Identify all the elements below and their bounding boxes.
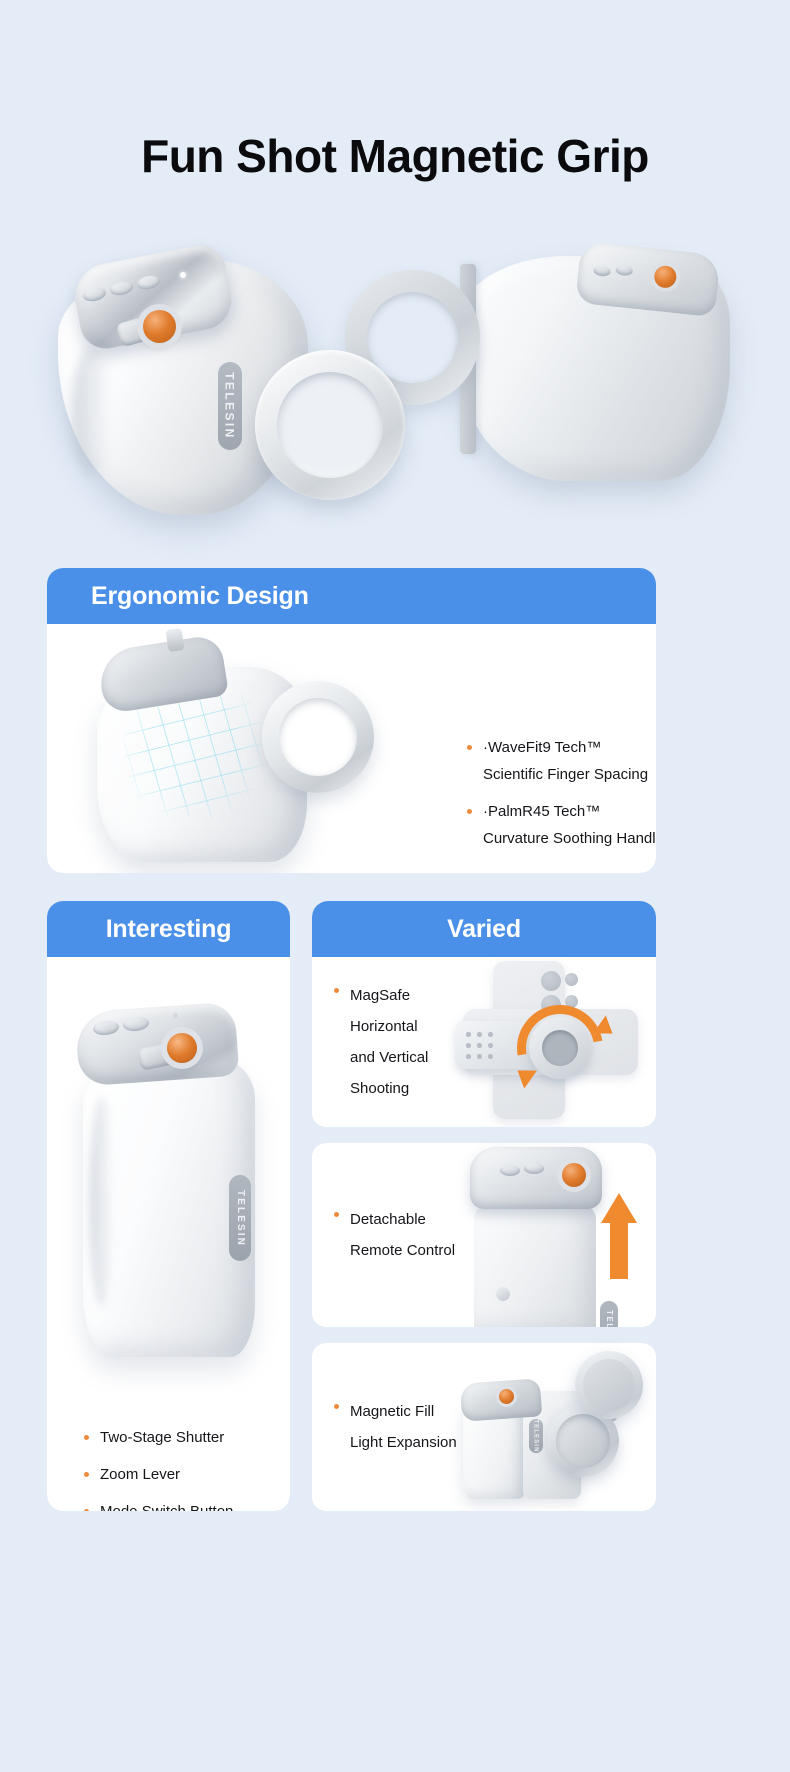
list-item: Mode Switch Button — [84, 1501, 284, 1511]
bullet-title: Detachable — [350, 1204, 426, 1235]
magnetic-ring-inner — [279, 698, 357, 776]
bullet-title: Magnetic Fill — [350, 1396, 434, 1427]
remote-grip-body: TELESIN — [474, 1205, 596, 1327]
up-arrow-icon — [610, 1221, 628, 1279]
remote-bullet-list: Detachable Remote Control — [334, 1143, 469, 1327]
magnetic-ring-icon — [262, 681, 374, 793]
shutter-button-icon — [562, 1163, 586, 1187]
subcard-fill-light: Magnetic Fill Light Expansion TELESIN — [312, 1343, 656, 1511]
remote-socket-icon — [496, 1287, 510, 1301]
card-interesting: Interesting TELESIN Two-Stage Shutter — [47, 901, 290, 1511]
card-ergonomic-design: Ergonomic Design ·WaveFit9 Tech™ Scienti… — [47, 568, 656, 873]
bullet-dot-icon — [84, 1472, 89, 1477]
list-item: Zoom Lever — [84, 1464, 284, 1485]
led-indicator-icon — [173, 1013, 178, 1018]
remote-illustration: TELESIN — [456, 1143, 656, 1327]
page-title: Fun Shot Magnetic Grip — [0, 129, 790, 183]
bullet-title: Light Expansion — [350, 1427, 457, 1458]
bullet-spacer — [334, 1050, 339, 1055]
fill-light-illustration: TELESIN — [447, 1357, 652, 1499]
bullet-subtitle: Curvature Soothing Handle — [483, 828, 656, 849]
hero-magnetic-ring-inner — [277, 372, 383, 478]
card-header-varied: Varied — [312, 901, 656, 957]
list-item: ·PalmR45 Tech™ — [467, 801, 656, 822]
card-body-ergonomic: ·WaveFit9 Tech™ Scientific Finger Spacin… — [47, 624, 656, 873]
brand-label: TELESIN — [529, 1419, 543, 1453]
wireframe-grid-overlay — [124, 691, 264, 819]
bullet-dot-icon — [467, 809, 472, 814]
bullet-spacer — [334, 1081, 339, 1086]
bullet-dot-icon — [334, 1212, 339, 1217]
infographic-page: Fun Shot Magnetic Grip TELESIN — [0, 0, 790, 1772]
bullet-title: Mode Switch Button — [100, 1501, 233, 1511]
subcard-magsafe: MagSafe Horizontal and Vertical Shooting — [312, 957, 656, 1127]
detachable-remote-module — [470, 1147, 602, 1209]
grip-buttons-icon — [463, 1029, 493, 1059]
interesting-illustration: TELESIN — [61, 975, 276, 1365]
subcard-remote-control: Detachable Remote Control TELESIN — [312, 1143, 656, 1327]
shutter-button-icon — [499, 1389, 514, 1404]
card-body-interesting: TELESIN Two-Stage Shutter Zoom Lever — [47, 957, 290, 1511]
interesting-bullet-list: Two-Stage Shutter Zoom Lever Mode Switch… — [84, 1427, 284, 1511]
list-item: Two-Stage Shutter — [84, 1427, 284, 1448]
brand-label-text: TELESIN — [605, 1310, 614, 1327]
bullet-dot-icon — [84, 1509, 89, 1511]
bullet-title: Remote Control — [350, 1235, 455, 1266]
bullet-title: ·WaveFit9 Tech™ — [483, 737, 601, 758]
list-item: Horizontal — [334, 1011, 469, 1042]
bullet-spacer — [334, 1019, 339, 1024]
list-item: ·WaveFit9 Tech™ — [467, 737, 656, 758]
fill-light-lens-inner — [556, 1414, 610, 1468]
bullet-spacer — [334, 1435, 339, 1440]
remote-button-icon — [500, 1165, 520, 1176]
bullet-spacer — [334, 1243, 339, 1248]
up-arrow-head-icon — [601, 1193, 637, 1223]
control-button-icon — [615, 265, 633, 277]
bullet-title: ·PalmR45 Tech™ — [483, 801, 600, 822]
list-item: and Vertical — [334, 1042, 469, 1073]
list-item: Detachable — [334, 1204, 469, 1235]
camera-lens-icon — [565, 973, 578, 986]
shutter-button-icon — [653, 265, 677, 289]
bullet-title: Horizontal — [350, 1011, 418, 1042]
camera-lens-icon — [541, 971, 561, 991]
bullet-dot-icon — [334, 1404, 339, 1409]
bullet-dot-icon — [334, 988, 339, 993]
brand-label-text: TELESIN — [533, 1419, 539, 1452]
magsafe-bullet-list: MagSafe Horizontal and Vertical Shooting — [334, 957, 469, 1127]
brand-label: TELESIN — [218, 362, 242, 450]
brand-label: TELESIN — [600, 1301, 618, 1327]
control-button-icon — [593, 265, 611, 277]
shutter-button-icon — [143, 310, 176, 343]
remote-button-icon — [524, 1163, 544, 1174]
list-item: Remote Control — [334, 1235, 469, 1266]
card-header-ergonomic: Ergonomic Design — [47, 568, 656, 624]
brand-label: TELESIN — [229, 1175, 251, 1261]
magsafe-illustration — [455, 963, 650, 1121]
brand-label-text: TELESIN — [223, 372, 237, 439]
bullet-title: Shooting — [350, 1073, 409, 1104]
led-indicator-icon — [180, 272, 186, 278]
bullet-subtitle: Scientific Finger Spacing — [483, 764, 656, 785]
bullet-dot-icon — [467, 745, 472, 750]
bullet-title: and Vertical — [350, 1042, 428, 1073]
ergonomic-illustration — [72, 629, 402, 869]
ergonomic-stem — [166, 628, 185, 652]
bullet-title: Zoom Lever — [100, 1464, 180, 1485]
bullet-dot-icon — [84, 1435, 89, 1440]
list-item: MagSafe — [334, 980, 469, 1011]
card-header-interesting: Interesting — [47, 901, 290, 957]
bullet-title: MagSafe — [350, 980, 410, 1011]
shutter-button-icon — [167, 1033, 197, 1063]
hero-magnetic-ring — [255, 350, 405, 500]
reflector-cap-inner — [580, 1356, 639, 1415]
ergonomic-bullet-list: ·WaveFit9 Tech™ Scientific Finger Spacin… — [467, 737, 656, 849]
list-item: Shooting — [334, 1073, 469, 1104]
hero-product-image: TELESIN — [40, 232, 750, 532]
bullet-title: Two-Stage Shutter — [100, 1427, 224, 1448]
brand-label-text: TELESIN — [235, 1190, 246, 1247]
